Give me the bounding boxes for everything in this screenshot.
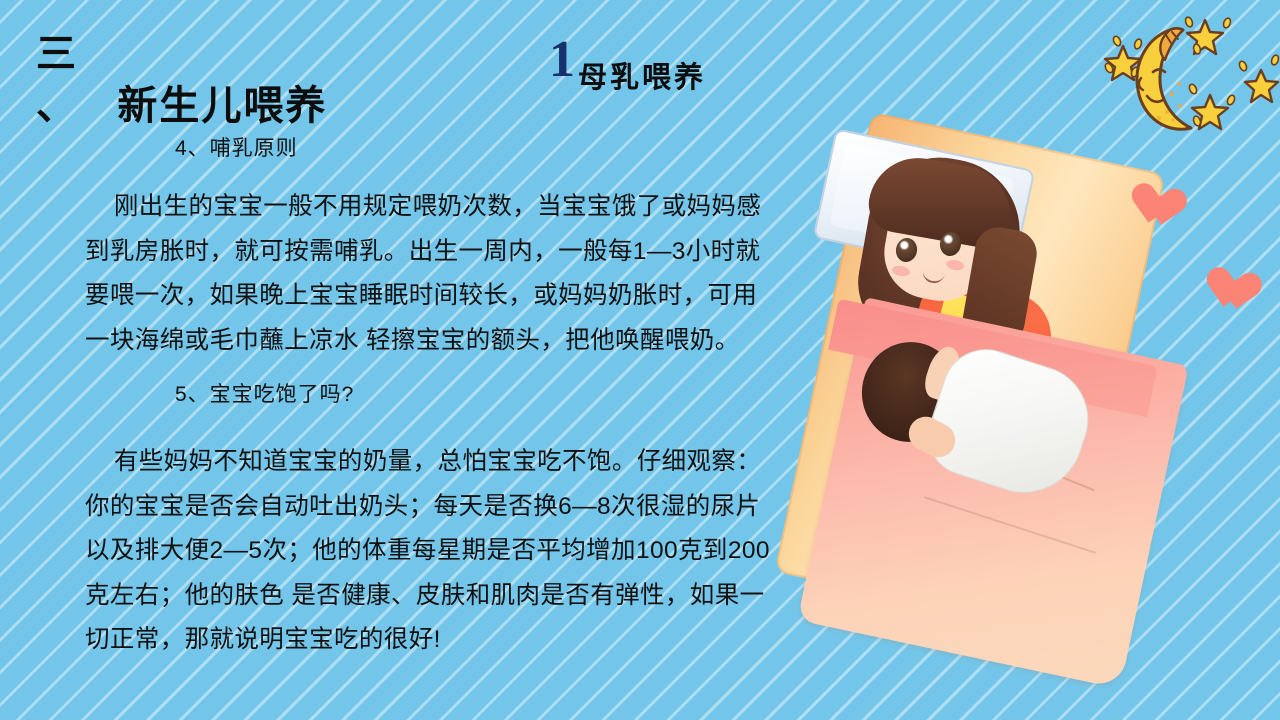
page-title: 三 、 新生儿喂养 xyxy=(36,28,366,132)
topic-title: 母乳喂养 xyxy=(578,61,706,95)
paragraph-is-baby-full: 有些妈妈不知道宝宝的奶量，总怕宝宝吃不饱。仔细观察：你的宝宝是否会自动吐出奶头；… xyxy=(85,440,775,663)
section-heading-5: 5、宝宝吃饱了吗? xyxy=(175,380,354,410)
topic-number: 1 xyxy=(549,32,575,88)
slide-canvas: 三 、 新生儿喂养 1 母乳喂养 4、哺乳原则 刚出生的宝宝一般不用规定喂奶次数… xyxy=(0,0,1280,720)
section-heading-4: 4、哺乳原则 xyxy=(175,134,298,164)
sleeping-moon-and-stars-decoration xyxy=(1075,8,1280,140)
star-icon xyxy=(1245,70,1278,102)
moon-stars-svg xyxy=(1075,8,1280,140)
sleeping-crescent-moon-icon xyxy=(1137,29,1191,130)
heart-icon xyxy=(1212,268,1265,317)
heart-icon xyxy=(1137,184,1190,233)
paragraph-feeding-principles: 刚出生的宝宝一般不用规定喂奶次数，当宝宝饿了或妈妈感到乳房胀时，就可按需哺乳。出… xyxy=(85,185,775,363)
